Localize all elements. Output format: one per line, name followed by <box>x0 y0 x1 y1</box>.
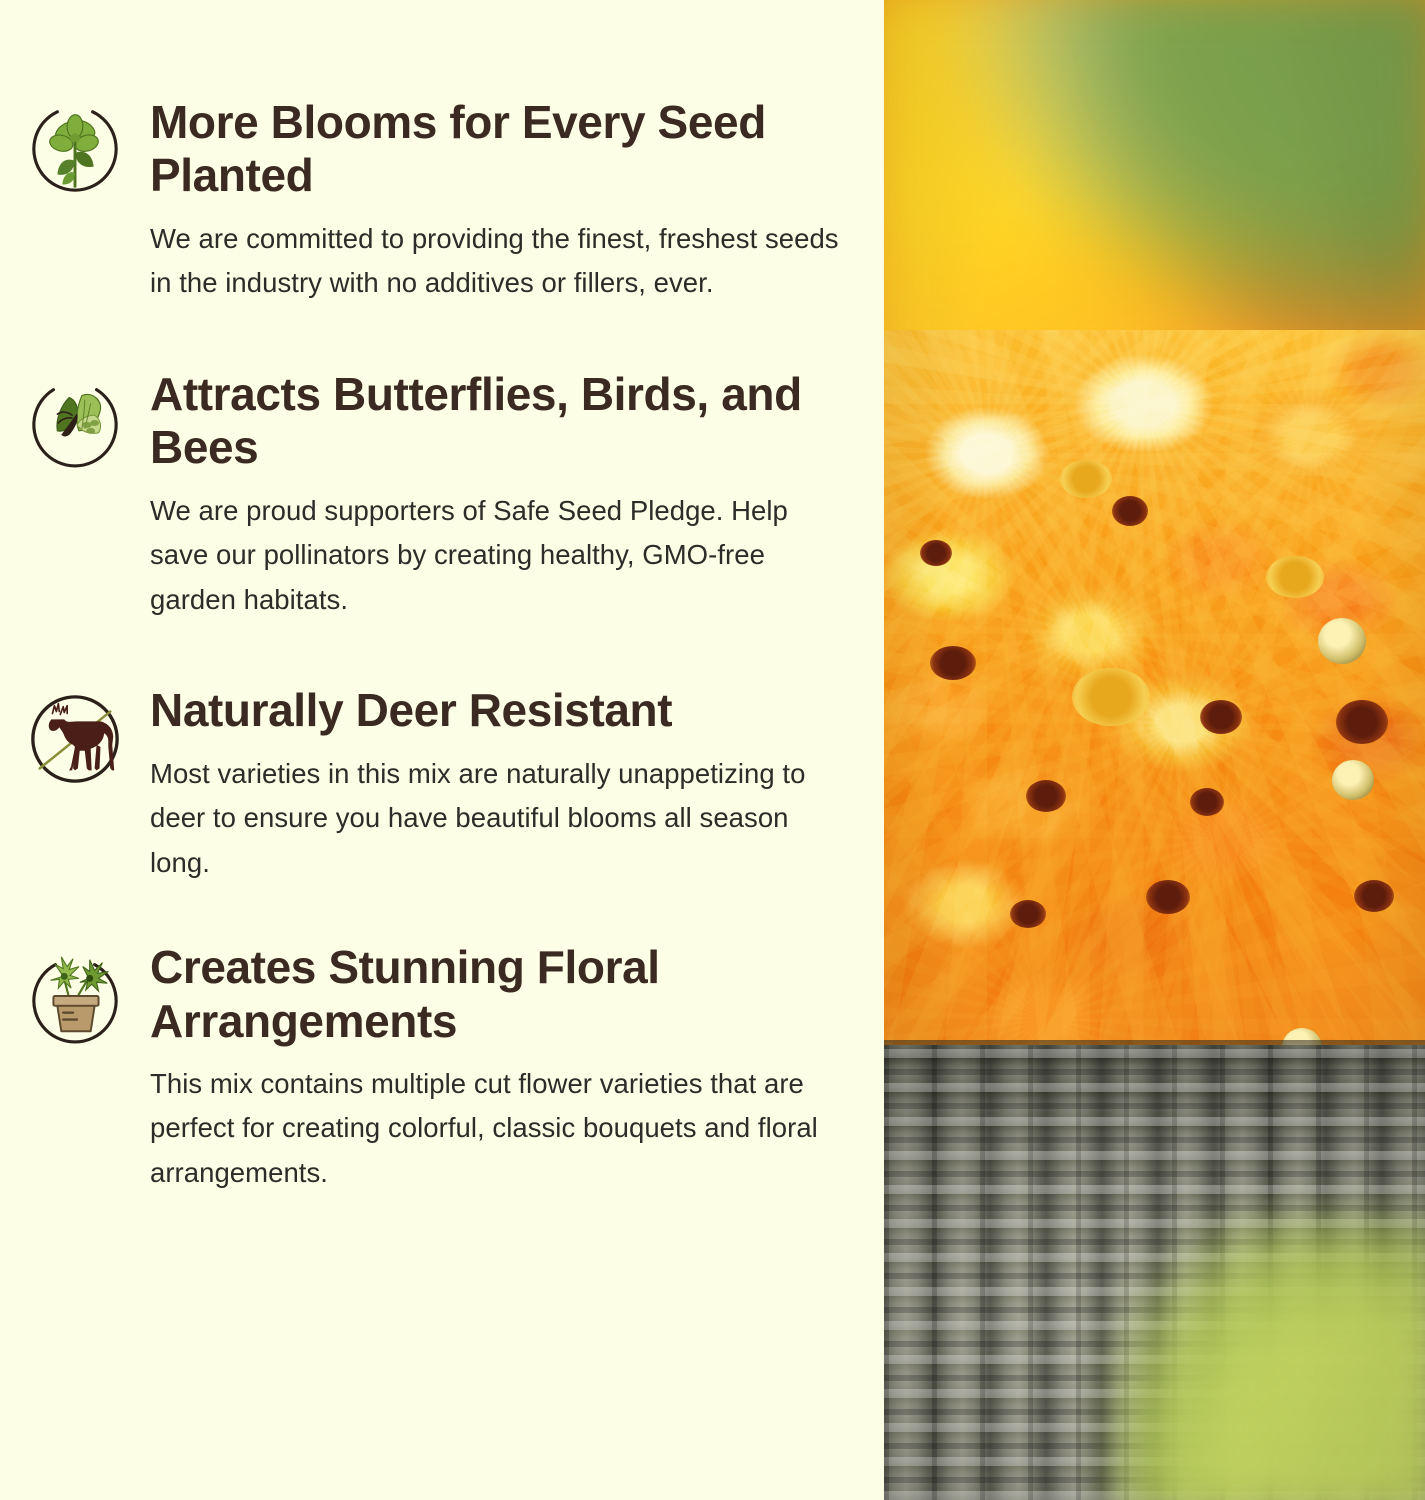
icon-column <box>0 96 150 200</box>
feature-body: This mix contains multiple cut flower va… <box>150 1062 850 1196</box>
feature-title: Attracts Butterflies, Birds, and Bees <box>150 368 840 475</box>
feature-title: More Blooms for Every Seed Planted <box>150 96 840 203</box>
feature-body: We are committed to providing the finest… <box>150 217 850 306</box>
text-column: More Blooms for Every Seed Planted We ar… <box>150 96 850 306</box>
icon-column <box>0 941 150 1045</box>
product-feature-panel: More Blooms for Every Seed Planted We ar… <box>0 0 1425 1500</box>
feature-title: Naturally Deer Resistant <box>150 684 840 737</box>
feature-block-more-blooms: More Blooms for Every Seed Planted We ar… <box>0 96 884 306</box>
no-deer-icon <box>26 690 124 788</box>
feature-body: Most varieties in this mix are naturally… <box>150 752 850 886</box>
flower-center <box>920 540 952 566</box>
calendula-flower-cluster <box>884 330 1425 1150</box>
text-column: Naturally Deer Resistant Most varieties … <box>150 684 850 885</box>
features-list: More Blooms for Every Seed Planted We ar… <box>0 0 884 1500</box>
wicker-basket <box>884 1045 1425 1500</box>
text-column: Attracts Butterflies, Birds, and Bees We… <box>150 368 850 622</box>
flower-center <box>1336 700 1388 744</box>
flower-center-yellow <box>1266 556 1324 598</box>
potted-plant-in-circle-icon <box>26 947 124 1045</box>
flower-center <box>1112 496 1148 526</box>
flower-center-yellow <box>1072 668 1150 726</box>
flower-in-circle-icon <box>26 102 124 200</box>
flower-center <box>930 646 976 680</box>
flower-bud <box>1318 618 1366 664</box>
feature-block-deer-resistant: Naturally Deer Resistant Most varieties … <box>0 684 884 885</box>
flower-center <box>1354 880 1394 912</box>
product-photo: Basket of freshly cut orange and yellow … <box>884 0 1425 1500</box>
feature-body: We are proud supporters of Safe Seed Ple… <box>150 489 850 623</box>
flower-center <box>1146 880 1190 914</box>
flower-center <box>1200 700 1242 734</box>
flower-center <box>1010 900 1046 928</box>
flower-center <box>1190 788 1224 816</box>
butterfly-in-circle-icon <box>26 374 124 472</box>
flower-bud <box>1332 760 1374 800</box>
icon-column <box>0 368 150 472</box>
feature-title: Creates Stunning Floral Arrangements <box>150 941 840 1048</box>
text-column: Creates Stunning Floral Arrangements Thi… <box>150 941 850 1195</box>
icon-column <box>0 684 150 788</box>
feature-block-floral-arrangements: Creates Stunning Floral Arrangements Thi… <box>0 941 884 1195</box>
flower-center <box>1026 780 1066 812</box>
flower-center-yellow <box>1060 460 1112 498</box>
feature-block-attracts-pollinators: Attracts Butterflies, Birds, and Bees We… <box>0 368 884 622</box>
